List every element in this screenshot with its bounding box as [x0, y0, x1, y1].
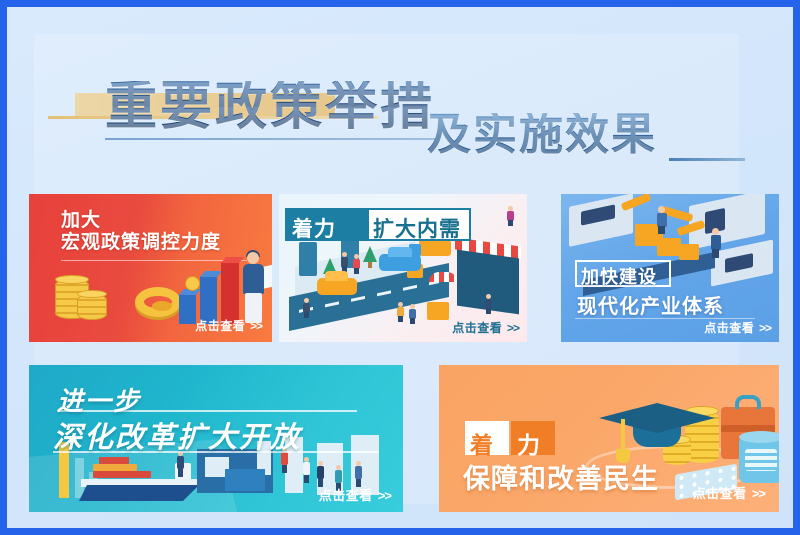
card-expand-demand-title-line1: 着力 — [292, 213, 336, 243]
card-industrial-system-cta[interactable]: 点击查看 >> — [704, 319, 771, 336]
cta-label: 点击查看 — [693, 487, 747, 502]
cta-arrow-icon: >> — [378, 488, 391, 503]
card-industrial-system[interactable]: 加快建设 现代化产业体系 点击查看 >> — [561, 194, 779, 342]
card-livelihood-cta[interactable]: 点击查看 >> — [693, 483, 765, 502]
gold-ring-icon — [135, 287, 181, 317]
cta-label: 点击查看 — [319, 489, 373, 504]
person-icon-light — [303, 457, 310, 483]
person-icon-navy — [317, 461, 324, 487]
worker-icon-1 — [657, 206, 667, 234]
cta-label: 点击查看 — [195, 319, 245, 333]
title-right-rule — [669, 158, 745, 161]
coin-stack-small-icon — [77, 294, 107, 320]
person-icon-5 — [409, 304, 416, 324]
card-macro-policy-title: 加大 宏观政策调控力度 — [61, 209, 221, 254]
car-icon-blue — [379, 254, 421, 271]
market-stall-icon — [429, 272, 457, 282]
card-macro-policy-rule — [61, 260, 247, 261]
person-icon-4 — [397, 302, 404, 322]
card-macro-policy[interactable]: 加大 宏观政策调控力度 点击查看 >> — [29, 194, 272, 342]
crate-icon-2 — [657, 238, 681, 256]
medicine-jar-icon — [739, 437, 779, 483]
card-livelihood-title-char1: 着 — [470, 426, 493, 460]
cta-arrow-icon: >> — [759, 321, 771, 335]
person-icon-7 — [485, 294, 492, 314]
tree-icon-2 — [363, 246, 377, 262]
coin-icon — [185, 276, 200, 291]
card-reform-opening-title-line2: 深化改革扩大开放 — [53, 414, 301, 456]
crate-icon-3 — [679, 244, 699, 260]
person-icon-6 — [507, 206, 514, 226]
cta-label: 点击查看 — [452, 321, 502, 335]
graduation-cap-icon — [599, 403, 715, 437]
counter-icon — [225, 469, 265, 491]
card-expand-demand[interactable]: 着力 扩大内需 点击查看 >> — [279, 194, 527, 342]
cta-arrow-icon: >> — [752, 486, 765, 501]
page-header: 重要政策举措 及实施效果 — [7, 45, 793, 155]
page-title: 重要政策举措 — [105, 81, 435, 133]
businessman-illustration — [241, 252, 267, 324]
billboard-icon-1 — [299, 242, 317, 276]
card-macro-policy-cta[interactable]: 点击查看 >> — [195, 317, 262, 334]
card-reform-opening-cta[interactable]: 点击查看 >> — [319, 485, 391, 504]
car-icon-yellow — [317, 278, 357, 295]
worker-icon-2 — [711, 228, 721, 258]
parcel-icon-1 — [427, 302, 449, 320]
cta-label: 点击查看 — [704, 321, 754, 335]
bar-chart-bar-1 — [179, 294, 196, 324]
page-background: 重要政策举措 及实施效果 加大 宏观政策调控力度 — [7, 7, 793, 528]
card-livelihood-title-line2: 保障和改善民生 — [463, 457, 659, 496]
person-icon-2 — [353, 254, 360, 274]
card-macro-policy-title-line1: 加大 — [61, 209, 101, 231]
cta-arrow-icon: >> — [250, 319, 262, 333]
person-icon-blue — [355, 461, 362, 487]
bar-chart-bar-3 — [221, 262, 239, 324]
person-icon-1 — [341, 252, 348, 272]
card-livelihood[interactable]: 着 力 保障和改善民生 点击查看 >> — [439, 365, 779, 512]
card-reform-opening[interactable]: 进一步 深化改革扩大开放 点击查看 >> — [29, 365, 403, 512]
page-frame: 重要政策举措 及实施效果 加大 宏观政策调控力度 — [0, 0, 800, 535]
card-macro-policy-title-line2: 宏观政策调控力度 — [61, 231, 221, 253]
card-expand-demand-title-line2: 扩大内需 — [373, 213, 461, 243]
title-underline — [105, 138, 435, 140]
card-expand-demand-cta[interactable]: 点击查看 >> — [452, 319, 519, 336]
person-icon-3 — [303, 298, 310, 318]
card-industrial-system-title-line1: 加快建设 — [581, 263, 657, 289]
cta-arrow-icon: >> — [507, 321, 519, 335]
card-industrial-system-title-line2: 现代化产业体系 — [577, 290, 724, 319]
card-reform-opening-title-line1: 进一步 — [57, 381, 141, 418]
card-livelihood-title-char2: 力 — [517, 426, 540, 460]
page-subtitle: 及实施效果 — [427, 113, 657, 157]
